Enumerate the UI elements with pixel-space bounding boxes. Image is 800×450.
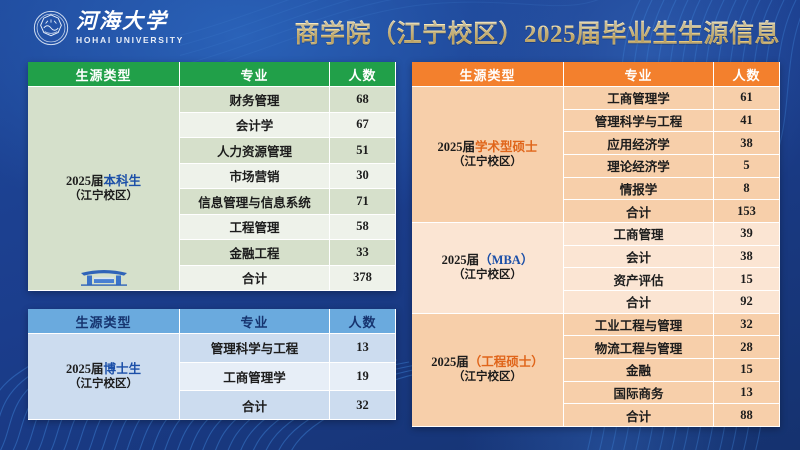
major-cell: 市场营销 <box>180 164 330 190</box>
table-header-row: 生源类型 专业 人数 <box>412 62 780 87</box>
major-cell: 人力资源管理 <box>180 138 330 164</box>
table-header-row: 生源类型 专业 人数 <box>28 62 396 87</box>
university-logo: 河海大学 HOHAI UNIVERSITY <box>33 10 184 46</box>
count-cell: 15 <box>714 359 780 382</box>
major-cell-total: 合计 <box>180 266 330 292</box>
masters-group-academic: 2025届学术型硕士 （江宁校区） 工商管理学 61 管理科学与工程 41 应用… <box>412 87 780 223</box>
type-campus: （江宁校区） <box>28 189 179 204</box>
type-prefix: 2025届 <box>437 140 475 154</box>
major-cell: 金融工程 <box>180 240 330 266</box>
slide-canvas: 河海大学 HOHAI UNIVERSITY 商学院（江宁校区）2025届毕业生生… <box>0 0 800 450</box>
column-header-major: 专业 <box>180 62 330 87</box>
count-cell: 30 <box>330 164 396 190</box>
type-campus: （江宁校区） <box>412 155 563 170</box>
logo-chinese-name: 河海大学 <box>76 11 184 32</box>
school-gate-icon <box>79 264 129 286</box>
type-campus: （江宁校区） <box>412 268 563 283</box>
count-cell-total: 378 <box>330 266 396 292</box>
count-cell: 19 <box>330 363 396 392</box>
table-row: 2025届（MBA） （江宁校区） 工商管理 39 <box>412 223 780 246</box>
major-cell: 情报学 <box>564 178 714 201</box>
major-cell: 会计 <box>564 246 714 269</box>
type-prefix: 2025届 <box>442 253 480 267</box>
type-prefix: 2025届 <box>431 355 469 369</box>
major-cell: 会计学 <box>180 113 330 139</box>
type-cell-academic-master: 2025届学术型硕士 （江宁校区） <box>412 87 564 223</box>
count-cell: 38 <box>714 246 780 269</box>
column-header-type: 生源类型 <box>28 309 180 334</box>
column-header-major: 专业 <box>564 62 714 87</box>
count-cell: 33 <box>330 240 396 266</box>
masters-group-engineering: 2025届（工程硕士） （江宁校区） 工业工程与管理 32 物流工程与管理 28… <box>412 314 780 427</box>
major-cell: 管理科学与工程 <box>564 110 714 133</box>
type-highlight: （工程硕士） <box>469 355 544 369</box>
undergraduate-table: 生源类型 专业 人数 2025届本科生 （江宁校区） <box>28 62 396 291</box>
major-cell: 金融 <box>564 359 714 382</box>
major-cell: 理论经济学 <box>564 155 714 178</box>
table-header-row: 生源类型 专业 人数 <box>28 309 396 334</box>
major-cell: 管理科学与工程 <box>180 334 330 363</box>
type-cell-mba: 2025届（MBA） （江宁校区） <box>412 223 564 314</box>
count-cell: 58 <box>330 215 396 241</box>
count-cell: 32 <box>714 314 780 337</box>
major-cell: 工商管理学 <box>564 87 714 110</box>
masters-group-mba: 2025届（MBA） （江宁校区） 工商管理 39 会计 38 资产评估 15 … <box>412 223 780 314</box>
major-cell: 国际商务 <box>564 382 714 405</box>
count-cell: 71 <box>330 189 396 215</box>
count-cell: 41 <box>714 110 780 133</box>
major-cell: 信息管理与信息系统 <box>180 189 330 215</box>
type-highlight: 本科生 <box>104 174 142 188</box>
major-cell-total: 合计 <box>180 391 330 420</box>
column-header-count: 人数 <box>714 62 780 87</box>
major-cell-total: 合计 <box>564 404 714 427</box>
count-cell-total: 153 <box>714 200 780 223</box>
type-cell-undergraduate: 2025届本科生 （江宁校区） <box>28 87 180 291</box>
count-cell: 15 <box>714 268 780 291</box>
count-cell: 13 <box>330 334 396 363</box>
type-cell-doctoral: 2025届博士生 （江宁校区） <box>28 334 180 420</box>
column-header-count: 人数 <box>330 62 396 87</box>
count-cell-total: 32 <box>330 391 396 420</box>
major-cell-total: 合计 <box>564 200 714 223</box>
count-cell: 13 <box>714 382 780 405</box>
major-cell: 工商管理 <box>564 223 714 246</box>
table-row: 2025届学术型硕士 （江宁校区） 工商管理学 61 <box>412 87 780 110</box>
column-header-type: 生源类型 <box>28 62 180 87</box>
type-highlight: 博士生 <box>104 362 142 376</box>
masters-table: 生源类型 专业 人数 2025届学术型硕士 （江宁校区） 工商管理学 61 管理… <box>412 62 780 427</box>
major-cell: 工业工程与管理 <box>564 314 714 337</box>
table-row: 2025届（工程硕士） （江宁校区） 工业工程与管理 32 <box>412 314 780 337</box>
type-prefix: 2025届 <box>66 362 104 376</box>
major-cell: 应用经济学 <box>564 132 714 155</box>
type-prefix: 2025届 <box>66 174 104 188</box>
count-cell: 5 <box>714 155 780 178</box>
count-cell: 38 <box>714 132 780 155</box>
page-title: 商学院（江宁校区）2025届毕业生生源信息 <box>294 14 780 50</box>
type-highlight: 学术型硕士 <box>475 140 538 154</box>
count-cell: 39 <box>714 223 780 246</box>
logo-english-name: HOHAI UNIVERSITY <box>76 36 184 45</box>
table-row: 2025届博士生 （江宁校区） 管理科学与工程 13 <box>28 334 396 363</box>
count-cell: 28 <box>714 336 780 359</box>
type-campus: （江宁校区） <box>28 377 179 392</box>
column-header-major: 专业 <box>180 309 330 334</box>
count-cell: 8 <box>714 178 780 201</box>
type-highlight: （MBA） <box>479 253 533 267</box>
column-header-type: 生源类型 <box>412 62 564 87</box>
count-cell: 51 <box>330 138 396 164</box>
major-cell: 财务管理 <box>180 87 330 113</box>
type-campus: （江宁校区） <box>412 370 563 385</box>
major-cell: 工程管理 <box>180 215 330 241</box>
major-cell: 工商管理学 <box>180 363 330 392</box>
count-cell: 67 <box>330 113 396 139</box>
type-cell-engineering-master: 2025届（工程硕士） （江宁校区） <box>412 314 564 427</box>
doctoral-table: 生源类型 专业 人数 2025届博士生 （江宁校区） 管理科学与工程 13 工商… <box>28 309 396 420</box>
count-cell: 61 <box>714 87 780 110</box>
major-cell: 物流工程与管理 <box>564 336 714 359</box>
column-header-count: 人数 <box>330 309 396 334</box>
table-row: 2025届本科生 （江宁校区） 财务管理 68 <box>28 87 396 113</box>
major-cell-total: 合计 <box>564 291 714 314</box>
count-cell-total: 92 <box>714 291 780 314</box>
count-cell-total: 88 <box>714 404 780 427</box>
count-cell: 68 <box>330 87 396 113</box>
slide-header: 河海大学 HOHAI UNIVERSITY 商学院（江宁校区）2025届毕业生生… <box>0 0 800 58</box>
hohai-seal-icon <box>33 10 69 46</box>
major-cell: 资产评估 <box>564 268 714 291</box>
